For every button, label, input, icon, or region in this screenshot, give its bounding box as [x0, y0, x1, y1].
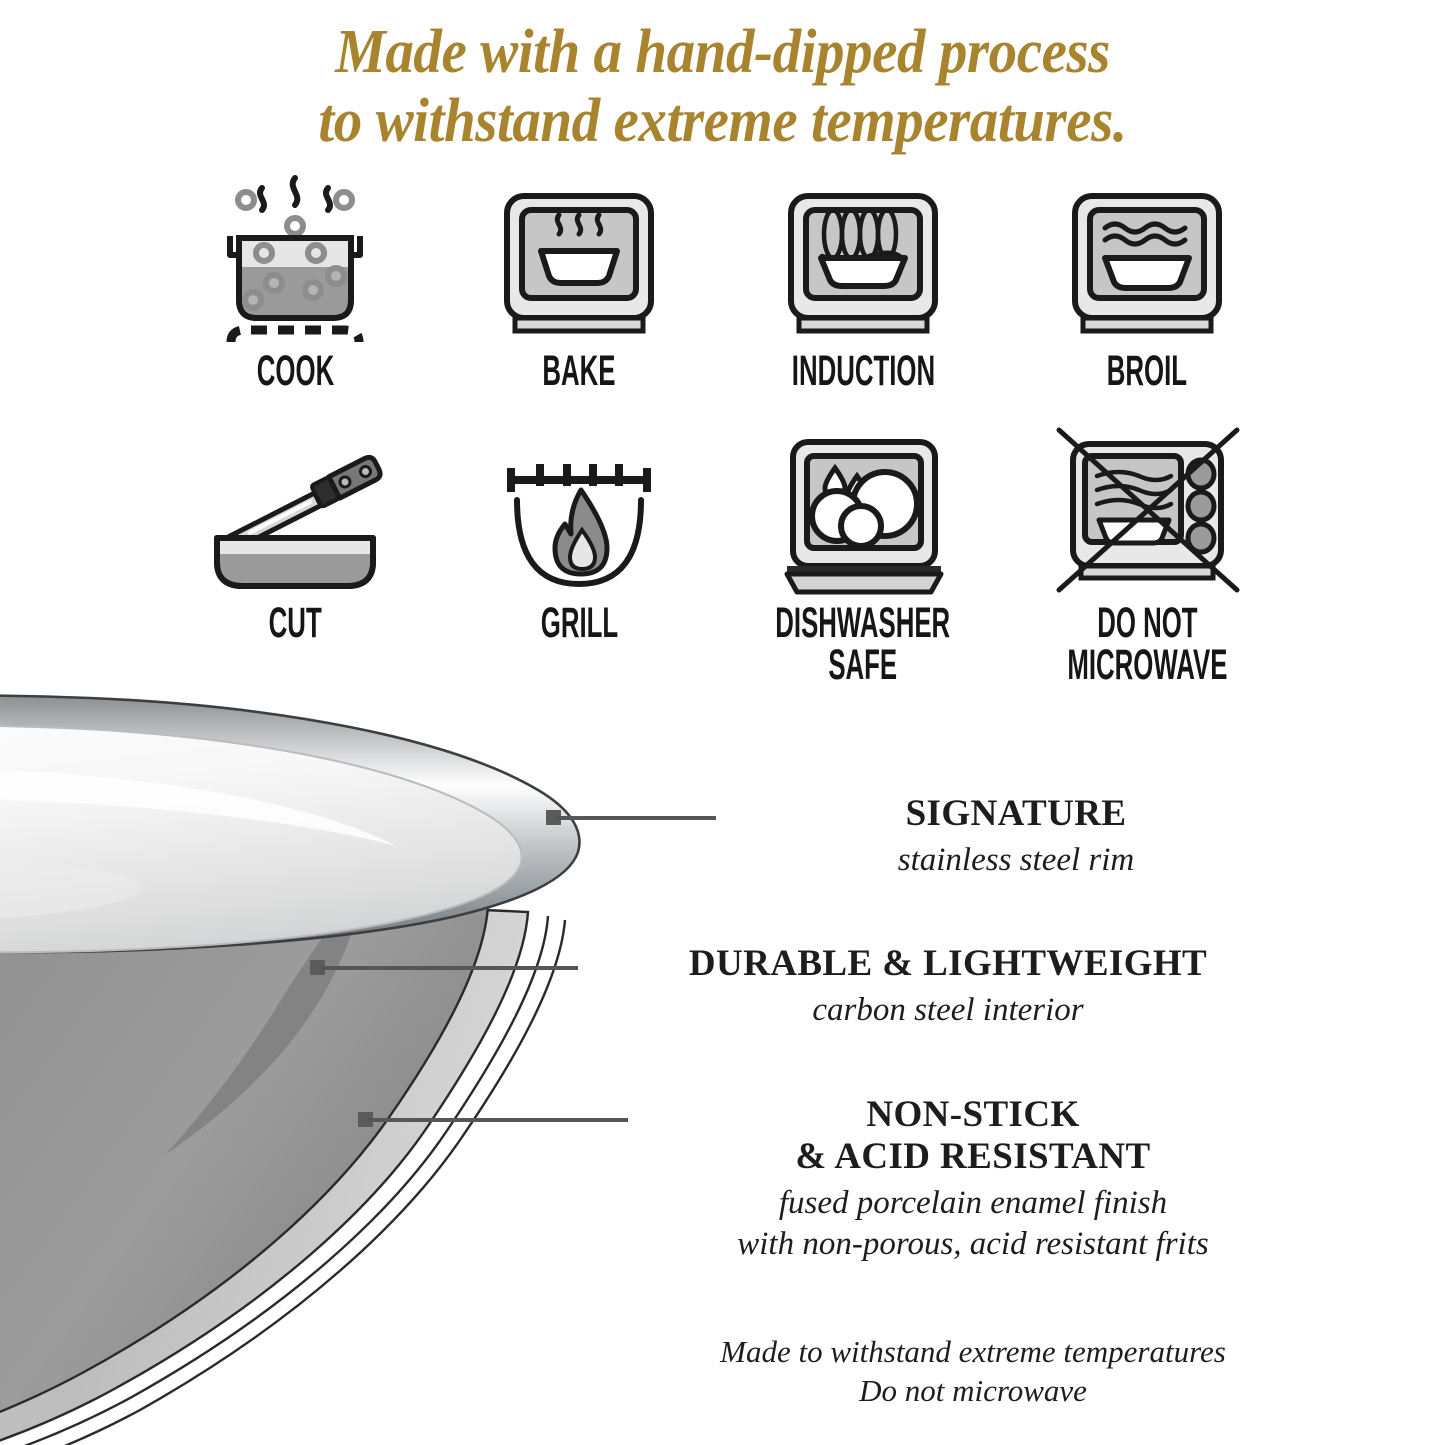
icon-label-do-not-microwave: DO NOT MICROWAVE [1067, 602, 1227, 686]
callout-nonstick: NON-STICK & ACID RESISTANT fused porcela… [628, 1094, 1318, 1264]
callout-signature: SIGNATURE stainless steel rim [716, 793, 1316, 880]
icon-label-cook: COOK [256, 350, 333, 392]
icon-row-1: COOK [0, 172, 1445, 424]
icon-label-bake: BAKE [542, 350, 615, 392]
icon-cell-cook: COOK [153, 172, 437, 424]
callout-nonstick-sub: fused porcelain enamel finish with non-p… [628, 1183, 1318, 1264]
callout-durable-title: DURABLE & LIGHTWEIGHT [578, 943, 1318, 985]
headline-line-2: to withstand extreme temperatures. [58, 87, 1387, 156]
icon-cell-do-not-microwave: DO NOT MICROWAVE [1005, 424, 1289, 676]
footnote-line-1: Made to withstand extreme temperatures [628, 1332, 1318, 1371]
leader-line-nonstick [368, 1118, 628, 1122]
icon-label-dishwasher-safe: DISHWASHER SAFE [776, 602, 951, 686]
icon-label-induction: INDUCTION [791, 350, 934, 392]
induction-icon [773, 172, 953, 348]
pot-illustration [0, 620, 720, 1445]
callout-durable: DURABLE & LIGHTWEIGHT carbon steel inter… [578, 943, 1318, 1030]
cut-icon [195, 424, 395, 600]
callout-durable-sub: carbon steel interior [578, 990, 1318, 1030]
leader-line-durable [320, 966, 578, 970]
footnote-line-2: Do not microwave [628, 1371, 1318, 1410]
icon-cell-induction: INDUCTION [721, 172, 1005, 424]
bake-icon [489, 172, 669, 348]
callout-signature-title: SIGNATURE [716, 793, 1316, 835]
icon-label-broil: BROIL [1107, 350, 1187, 392]
icon-cell-dishwasher-safe: DISHWASHER SAFE [721, 424, 1005, 676]
infographic-canvas: Made with a hand-dipped process to withs… [0, 0, 1445, 1445]
leader-line-signature [556, 816, 716, 820]
icon-cell-broil: BROIL [1005, 172, 1289, 424]
page-title: Made with a hand-dipped process to withs… [58, 18, 1387, 157]
headline-line-1: Made with a hand-dipped process [335, 18, 1110, 86]
callout-nonstick-title: NON-STICK & ACID RESISTANT [628, 1094, 1318, 1178]
icon-cell-bake: BAKE [437, 172, 721, 424]
grill-icon [489, 424, 669, 600]
dishwasher-safe-icon [773, 424, 953, 600]
do-not-microwave-icon [1047, 424, 1247, 600]
footnote: Made to withstand extreme temperatures D… [628, 1332, 1318, 1410]
callout-signature-sub: stainless steel rim [716, 840, 1316, 880]
broil-icon [1057, 172, 1237, 348]
cook-icon [205, 172, 385, 348]
